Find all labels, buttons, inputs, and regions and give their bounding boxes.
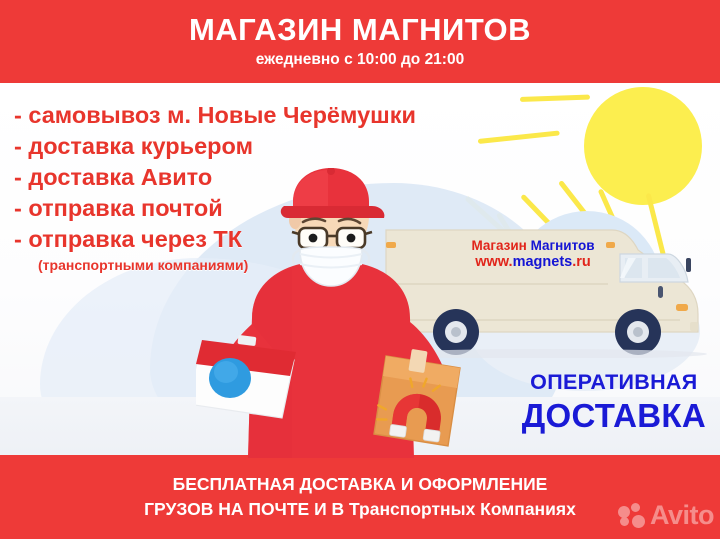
delivery-promo-poster: Магазин Магнитов www.magnets.ru bbox=[0, 0, 720, 539]
list-item: - отправка через ТК bbox=[14, 224, 416, 255]
page-title: МАГАЗИН МАГНИТОВ bbox=[189, 14, 531, 47]
top-banner: МАГАЗИН МАГНИТОВ ежедневно с 10:00 до 21… bbox=[0, 0, 720, 83]
bottom-banner: БЕСПЛАТНАЯ ДОСТАВКА И ОФОРМЛЕНИЕ ГРУЗОВ … bbox=[0, 455, 720, 539]
avito-watermark: Avito bbox=[618, 500, 714, 531]
sun-ray-icon bbox=[520, 95, 590, 102]
van-sign-tld: .ru bbox=[572, 254, 591, 270]
sun-icon bbox=[584, 87, 702, 205]
van-sign: Магазин Магнитов www.magnets.ru bbox=[462, 238, 604, 271]
avito-watermark-label: Avito bbox=[650, 500, 714, 531]
highlight-line-1: ОПЕРАТИВНАЯ bbox=[522, 372, 706, 394]
opening-hours: ежедневно с 10:00 до 21:00 bbox=[256, 51, 464, 69]
package-box bbox=[374, 349, 460, 446]
van-sign-word-magazin: Магазин bbox=[471, 238, 530, 253]
van-sign-domain: magnets bbox=[513, 254, 573, 270]
services-note: (транспортными компаниями) bbox=[38, 255, 416, 275]
list-item: - доставка Авито bbox=[14, 162, 416, 193]
bottom-banner-line-2: ГРУЗОВ НА ПОЧТЕ И В Транспортных Компани… bbox=[144, 497, 576, 522]
list-item: - отправка почтой bbox=[14, 193, 416, 224]
van-sign-www: www. bbox=[475, 254, 512, 270]
sun-ray-icon bbox=[478, 130, 560, 144]
highlight-callout: ОПЕРАТИВНАЯ ДОСТАВКА bbox=[522, 372, 706, 432]
van-sign-word-magnitov: Магнитов bbox=[531, 238, 595, 253]
services-list: - самовывоз м. Новые Черёмушки - доставк… bbox=[14, 100, 416, 275]
highlight-line-2: ДОСТАВКА bbox=[522, 399, 706, 432]
list-item: - самовывоз м. Новые Черёмушки bbox=[14, 100, 416, 131]
van-sign-website: www.magnets.ru bbox=[462, 254, 604, 271]
avito-logo-icon bbox=[618, 503, 648, 529]
list-item: - доставка курьером bbox=[14, 131, 416, 162]
bottom-banner-line-1: БЕСПЛАТНАЯ ДОСТАВКА И ОФОРМЛЕНИЕ bbox=[173, 472, 548, 497]
van-sign-shop-name: Магазин Магнитов bbox=[462, 238, 604, 254]
